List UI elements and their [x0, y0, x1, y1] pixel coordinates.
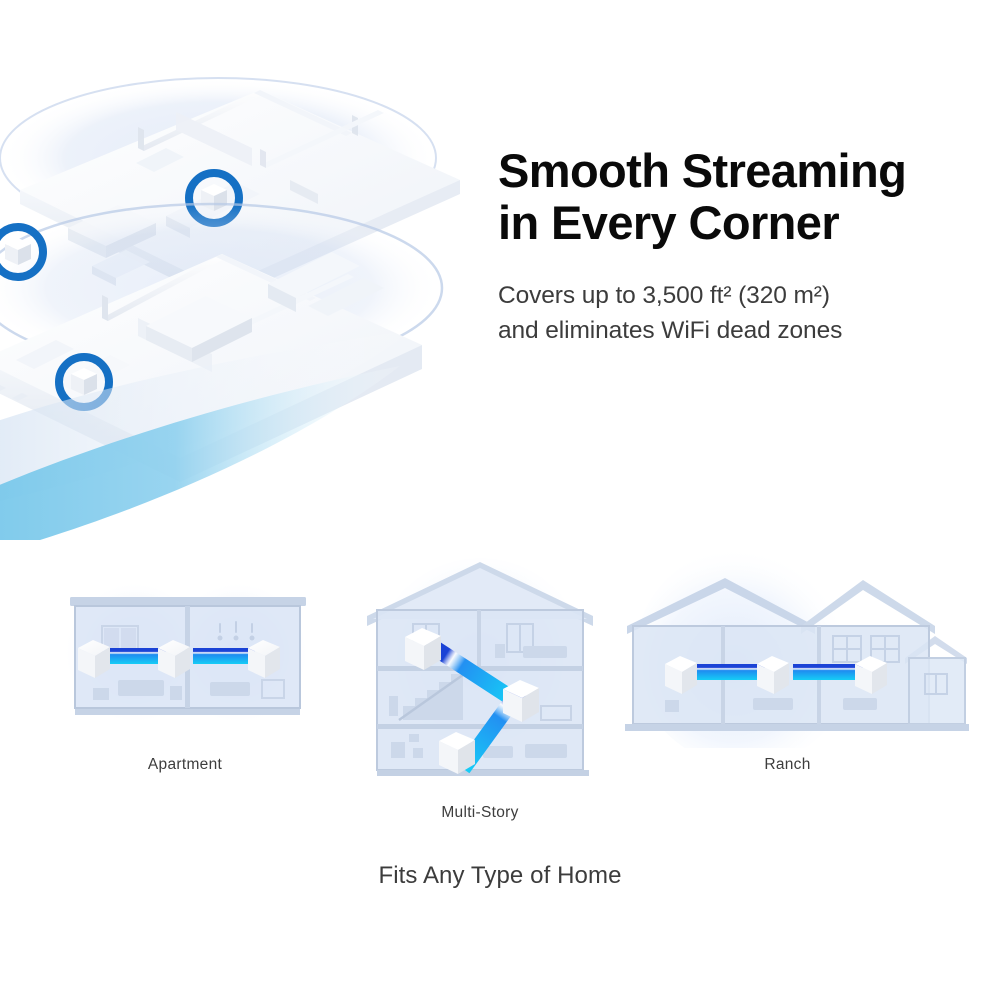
isometric-house-illustration — [0, 30, 500, 540]
multistory-illustration — [355, 548, 605, 796]
marketing-slide: Smooth Streaming in Every Corner Covers … — [0, 0, 1000, 1000]
home-type-label-ranch: Ranch — [605, 756, 970, 774]
home-type-label-apartment: Apartment — [30, 756, 340, 774]
home-type-ranch: Ranch — [605, 548, 970, 774]
home-type-label-multistory: Multi-Story — [355, 804, 605, 822]
apartment-illustration — [30, 548, 340, 748]
hero-section: Smooth Streaming in Every Corner Covers … — [0, 0, 1000, 545]
hero-copy: Smooth Streaming in Every Corner Covers … — [498, 145, 968, 349]
hero-subtitle: Covers up to 3,500 ft² (320 m²) and elim… — [498, 279, 968, 349]
home-type-multistory: Multi-Story — [355, 548, 605, 822]
ranch-illustration — [605, 548, 970, 748]
home-type-apartment: Apartment — [30, 548, 340, 774]
home-types-row: Apartment — [0, 548, 1000, 823]
isometric-house-svg — [0, 30, 500, 540]
page-title: Smooth Streaming in Every Corner — [498, 145, 968, 249]
home-types-caption: Fits Any Type of Home — [0, 862, 1000, 890]
